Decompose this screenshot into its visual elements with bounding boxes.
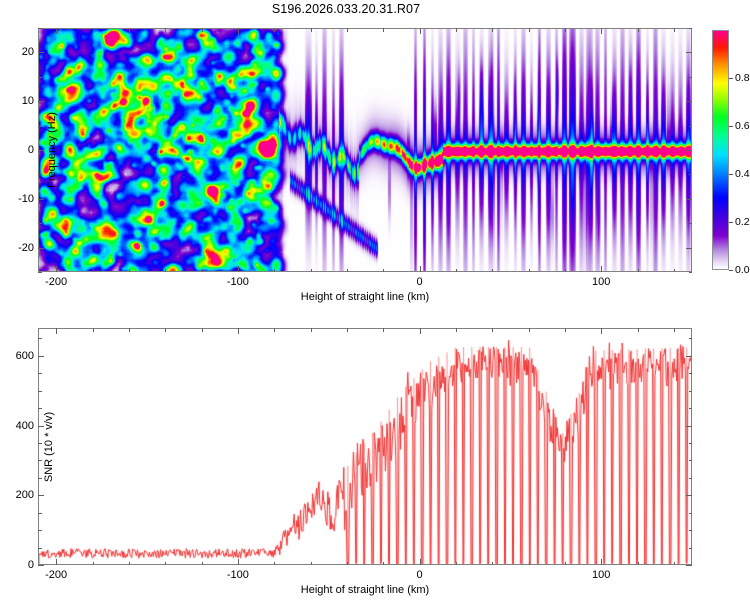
axis-tick	[347, 328, 348, 332]
axis-tick	[674, 28, 675, 32]
axis-tick	[638, 269, 639, 273]
y-tick-label: 20	[22, 46, 34, 58]
colorbar-gradient	[713, 31, 728, 269]
axis-tick	[686, 495, 692, 496]
axis-tick	[38, 28, 42, 29]
axis-tick	[56, 266, 57, 272]
colorbar-tick	[729, 78, 733, 79]
snr-axes	[38, 328, 692, 565]
axis-tick	[165, 28, 166, 32]
axis-tick	[689, 391, 693, 392]
axis-tick	[347, 269, 348, 273]
axis-tick	[238, 28, 239, 34]
axis-tick	[689, 338, 693, 339]
axis-tick	[38, 126, 42, 127]
axis-tick	[689, 408, 693, 409]
axis-tick	[311, 328, 312, 332]
axis-tick	[674, 562, 675, 566]
axis-tick	[456, 269, 457, 273]
figure-root: S196.2026.033.20.31.R07 -200-1000100-20-…	[0, 0, 750, 600]
colorbar-tick	[729, 126, 733, 127]
axis-tick	[689, 443, 693, 444]
snr-trace	[39, 329, 692, 565]
axis-tick	[56, 559, 57, 565]
snr-x-axis-label: Height of straight line (km)	[301, 584, 429, 596]
axis-tick	[56, 28, 57, 34]
axis-tick	[689, 478, 693, 479]
axis-tick	[274, 28, 275, 32]
spectrogram-image	[39, 29, 692, 272]
axis-tick	[165, 328, 166, 332]
axis-tick	[129, 328, 130, 332]
axis-tick	[529, 562, 530, 566]
axis-tick	[93, 269, 94, 273]
axis-tick	[38, 272, 42, 273]
axis-tick	[420, 266, 421, 272]
colorbar	[712, 30, 729, 270]
axis-tick	[638, 328, 639, 332]
axis-tick	[38, 373, 42, 374]
colorbar-tick-label: 0.2	[735, 216, 750, 228]
x-tick-label: -200	[45, 569, 67, 581]
axis-tick	[686, 248, 692, 249]
colorbar-tick-label: 0.4	[735, 168, 750, 180]
axis-tick	[456, 28, 457, 32]
axis-tick	[93, 28, 94, 32]
axis-tick	[674, 269, 675, 273]
axis-tick	[38, 248, 44, 249]
axis-tick	[492, 328, 493, 332]
axis-tick	[601, 266, 602, 272]
y-tick-label: 600	[16, 350, 34, 362]
axis-tick	[202, 562, 203, 566]
spectrogram-y-axis-label: Frequency (Hz)	[46, 112, 58, 188]
axis-tick	[311, 269, 312, 273]
x-tick-label: 0	[416, 569, 422, 581]
axis-tick	[492, 28, 493, 32]
axis-tick	[38, 223, 42, 224]
axis-tick	[38, 408, 42, 409]
axis-tick	[686, 101, 692, 102]
axis-tick	[689, 460, 693, 461]
axis-tick	[689, 77, 693, 78]
axis-tick	[689, 174, 693, 175]
spectrogram-x-axis-label: Height of straight line (km)	[301, 291, 429, 303]
x-tick-label: -100	[227, 276, 249, 288]
y-tick-label: 10	[22, 95, 34, 107]
colorbar-tick	[729, 174, 733, 175]
axis-tick	[565, 562, 566, 566]
axis-tick	[689, 272, 693, 273]
axis-tick	[38, 150, 44, 151]
axis-tick	[383, 562, 384, 566]
axis-tick	[689, 223, 693, 224]
axis-tick	[383, 28, 384, 32]
y-tick-label: -20	[18, 242, 34, 254]
colorbar-tick-label: 0.8	[735, 72, 750, 84]
axis-tick	[689, 530, 693, 531]
axis-tick	[638, 562, 639, 566]
axis-tick	[420, 28, 421, 34]
figure-title: S196.2026.033.20.31.R07	[0, 2, 692, 16]
axis-tick	[38, 174, 42, 175]
axis-tick	[686, 199, 692, 200]
axis-tick	[38, 443, 42, 444]
axis-tick	[565, 269, 566, 273]
colorbar-tick	[729, 222, 733, 223]
axis-tick	[420, 559, 421, 565]
x-tick-label: -200	[45, 276, 67, 288]
axis-tick	[529, 269, 530, 273]
x-tick-label: 0	[416, 276, 422, 288]
axis-tick	[129, 562, 130, 566]
axis-tick	[686, 356, 692, 357]
axis-tick	[565, 328, 566, 332]
colorbar-tick-label: 0.0	[735, 264, 750, 276]
axis-tick	[347, 562, 348, 566]
axis-tick	[529, 28, 530, 32]
axis-tick	[38, 338, 42, 339]
axis-tick	[238, 266, 239, 272]
y-tick-label: 0	[28, 559, 34, 571]
axis-tick	[689, 548, 693, 549]
axis-tick	[529, 328, 530, 332]
axis-tick	[202, 269, 203, 273]
axis-tick	[38, 460, 42, 461]
axis-tick	[274, 269, 275, 273]
axis-tick	[165, 562, 166, 566]
colorbar-tick-label: 0.6	[735, 120, 750, 132]
axis-tick	[38, 356, 44, 357]
axis-tick	[686, 52, 692, 53]
axis-tick	[38, 391, 42, 392]
axis-tick	[311, 28, 312, 32]
axis-tick	[38, 495, 44, 496]
axis-tick	[38, 530, 42, 531]
colorbar-tick	[729, 270, 733, 271]
axis-tick	[238, 328, 239, 334]
axis-tick	[202, 328, 203, 332]
axis-tick	[129, 28, 130, 32]
snr-y-axis-label: SNR (10 * v/v)	[43, 411, 55, 481]
axis-tick	[492, 562, 493, 566]
axis-tick	[274, 328, 275, 332]
axis-tick	[686, 150, 692, 151]
axis-tick	[274, 562, 275, 566]
axis-tick	[420, 328, 421, 334]
x-tick-label: 100	[592, 569, 610, 581]
axis-tick	[38, 199, 44, 200]
axis-tick	[686, 565, 692, 566]
axis-tick	[638, 28, 639, 32]
axis-tick	[383, 269, 384, 273]
axis-tick	[38, 101, 44, 102]
axis-tick	[93, 328, 94, 332]
axis-tick	[492, 269, 493, 273]
axis-tick	[456, 562, 457, 566]
axis-tick	[674, 328, 675, 332]
axis-tick	[601, 328, 602, 334]
y-tick-label: 400	[16, 420, 34, 432]
axis-tick	[347, 28, 348, 32]
axis-tick	[38, 52, 44, 53]
axis-tick	[38, 565, 44, 566]
axis-tick	[601, 28, 602, 34]
axis-tick	[38, 478, 42, 479]
y-tick-label: 200	[16, 489, 34, 501]
spectrogram-axes	[38, 28, 692, 272]
x-tick-label: 100	[592, 276, 610, 288]
y-tick-label: -10	[18, 193, 34, 205]
axis-tick	[238, 559, 239, 565]
axis-tick	[601, 559, 602, 565]
axis-tick	[165, 269, 166, 273]
axis-tick	[565, 28, 566, 32]
axis-tick	[689, 126, 693, 127]
axis-tick	[38, 513, 42, 514]
axis-tick	[689, 513, 693, 514]
y-tick-label: 0	[28, 144, 34, 156]
axis-tick	[38, 548, 42, 549]
x-tick-label: -100	[227, 569, 249, 581]
axis-tick	[311, 562, 312, 566]
axis-tick	[93, 562, 94, 566]
axis-tick	[56, 328, 57, 334]
axis-tick	[456, 328, 457, 332]
axis-tick	[689, 28, 693, 29]
axis-tick	[686, 426, 692, 427]
axis-tick	[129, 269, 130, 273]
axis-tick	[202, 28, 203, 32]
axis-tick	[689, 373, 693, 374]
axis-tick	[383, 328, 384, 332]
axis-tick	[38, 77, 42, 78]
